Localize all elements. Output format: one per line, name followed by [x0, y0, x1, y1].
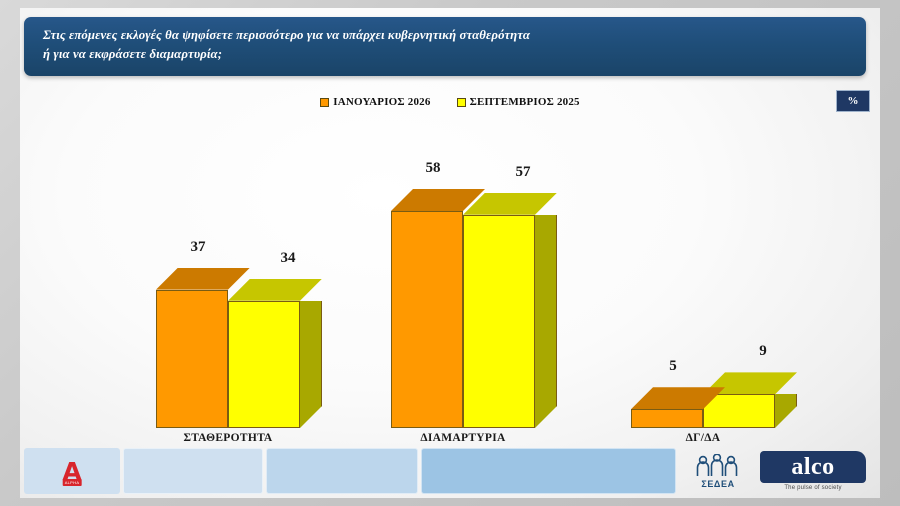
bar-value-label: 57 — [516, 164, 531, 181]
sedea-label: ΣΕΔΕΑ — [701, 479, 734, 489]
legend-item-1[interactable]: ΙΑΝΟΥΑΡΙΟΣ 2026 — [320, 96, 430, 108]
bar-ΔΓ/ΔΑ-ΙΑΝΟΥΑΡΙΟΣ 2026[interactable] — [631, 409, 703, 428]
alpha-tag: ALPHA — [63, 479, 82, 486]
footer-segment-2 — [266, 448, 418, 494]
bar-side-face — [775, 394, 797, 428]
alco-logo: alco The pulse of society — [760, 448, 866, 494]
question-line-2: ή για να εκφράσετε διαμαρτυρία; — [43, 45, 866, 64]
slide-canvas: Στις επόμενες εκλογές θα ψηφίσετε περισσ… — [20, 8, 880, 498]
sedea-logo: ΣΕΔΕΑ — [679, 448, 757, 494]
alco-wordmark: alco — [791, 455, 834, 479]
sedea-people-icon — [692, 454, 744, 478]
bar-front-face — [463, 215, 535, 428]
bar-ΣΤΑΘΕΡΟΤΗΤΑ-ΙΑΝΟΥΑΡΙΟΣ 2026[interactable] — [156, 290, 228, 428]
bar-front-face — [156, 290, 228, 428]
legend-item-2[interactable]: ΣΕΠΤΕΜΒΡΙΟΣ 2025 — [457, 96, 580, 108]
bar-ΔΙΑΜΑΡΤΥΡΙΑ-ΙΑΝΟΥΑΡΙΟΣ 2026[interactable] — [391, 211, 463, 428]
footer-segment-1 — [123, 448, 263, 494]
bar-top-face — [228, 279, 322, 301]
bar-ΔΓ/ΔΑ-ΣΕΠΤΕΜΒΡΙΟΣ 2025[interactable] — [703, 394, 775, 428]
bar-front-face — [391, 211, 463, 428]
bar-ΔΙΑΜΑΡΤΥΡΙΑ-ΣΕΠΤΕΜΒΡΙΟΣ 2025[interactable] — [463, 215, 535, 428]
footer-bar: A ALPHA ΣΕΔΕΑ alco The pulse of society — [24, 448, 866, 494]
bar-value-label: 34 — [281, 250, 296, 267]
bar-front-face — [631, 409, 703, 428]
legend-label: ΣΕΠΤΕΜΒΡΙΟΣ 2025 — [470, 96, 580, 108]
alpha-mark-icon: A ALPHA — [61, 457, 83, 485]
alpha-logo: A ALPHA — [24, 448, 120, 494]
legend-swatch-icon — [457, 98, 466, 107]
category-label-2: ΔΙΑΜΑΡΤΥΡΙΑ — [420, 432, 505, 444]
bar-side-face — [535, 215, 557, 428]
bar-side-face — [300, 301, 322, 428]
legend-swatch-icon — [320, 98, 329, 107]
bar-front-face — [228, 301, 300, 428]
bar-value-label: 5 — [669, 358, 677, 375]
bar-ΣΤΑΘΕΡΟΤΗΤΑ-ΣΕΠΤΕΜΒΡΙΟΣ 2025[interactable] — [228, 301, 300, 428]
bar-value-label: 37 — [191, 239, 206, 256]
bar-top-face — [156, 268, 250, 290]
category-label-3: ΔΓ/ΔΑ — [686, 432, 721, 444]
bar-value-label: 9 — [759, 343, 767, 360]
category-label-1: ΣΤΑΘΕΡΟΤΗΤΑ — [183, 432, 272, 444]
legend-label: ΙΑΝΟΥΑΡΙΟΣ 2026 — [333, 96, 430, 108]
question-banner: Στις επόμενες εκλογές θα ψηφίσετε περισσ… — [24, 17, 866, 76]
question-line-1: Στις επόμενες εκλογές θα ψηφίσετε περισσ… — [43, 26, 866, 45]
footer-segment-3 — [421, 448, 676, 494]
alco-tagline: The pulse of society — [784, 485, 841, 491]
chart-plot-area: 3437575895 — [20, 118, 880, 428]
bar-front-face — [703, 394, 775, 428]
chart-legend: ΙΑΝΟΥΑΡΙΟΣ 2026ΣΕΠΤΕΜΒΡΙΟΣ 2025 — [20, 96, 880, 108]
alco-box: alco — [760, 451, 866, 483]
bar-value-label: 58 — [426, 160, 441, 177]
